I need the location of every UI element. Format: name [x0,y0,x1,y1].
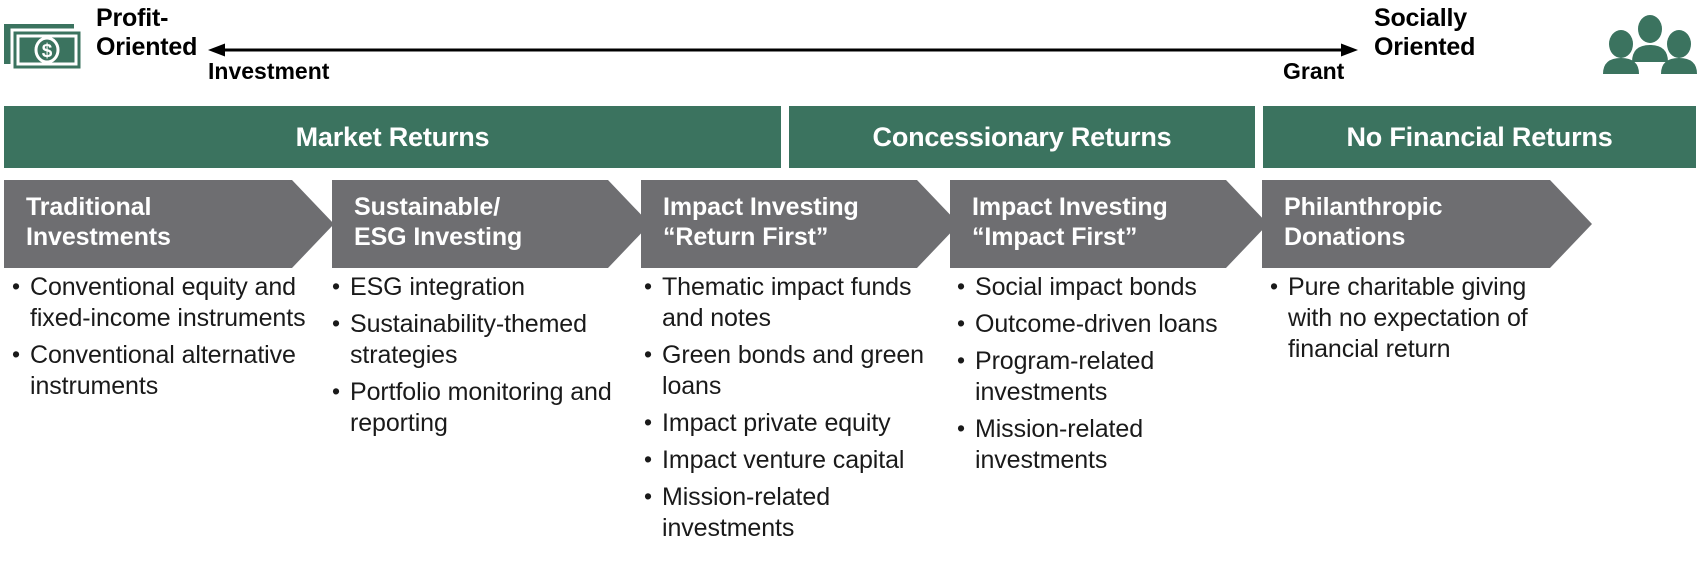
bullet-item: Pure charitable giving with no expectati… [1268,272,1558,365]
bullet-column-impact-investing-return-first: Thematic impact funds and notes Green bo… [642,272,947,550]
bullet-column-sustainable-esg-investing: ESG integration Sustainability-themed st… [330,272,630,445]
chevron-label: Impact Investing “Return First” [663,192,859,252]
spectrum-header: $ Profit- Oriented Investment Grant Soci… [0,0,1700,100]
category-chevron-row: Traditional Investments Sustainable/ ESG… [0,180,1700,268]
chevron-sustainable-esg-investing: Sustainable/ ESG Investing [332,180,650,268]
bullet-item: Thematic impact funds and notes [642,272,947,334]
bullet-item: Social impact bonds [955,272,1245,303]
returns-bar-market: Market Returns [4,106,781,168]
spectrum-axis-arrow [208,43,1358,57]
bullet-list: Thematic impact funds and notes Green bo… [642,272,947,544]
bullet-item: Impact venture capital [642,445,947,476]
returns-bar-label: Concessionary Returns [873,122,1172,153]
chevron-impact-investing-impact-first: Impact Investing “Impact First” [950,180,1268,268]
chevron-traditional-investments: Traditional Investments [4,180,334,268]
flow-label-investment: Investment [208,58,329,85]
bullet-item: ESG integration [330,272,630,303]
bullet-item: Mission-related investments [642,482,947,544]
bullet-item: Conventional equity and fixed-income ins… [10,272,320,334]
bullet-item: Conventional alternative instruments [10,340,320,402]
bullet-column-philanthropic-donations: Pure charitable giving with no expectati… [1268,272,1558,371]
returns-bar-label: Market Returns [296,122,490,153]
bullet-item: Outcome-driven loans [955,309,1245,340]
chevron-label: Impact Investing “Impact First” [972,192,1168,252]
bullet-item: Sustainability-themed strategies [330,309,630,371]
bullet-item: Program-related investments [955,346,1245,408]
chevron-label: Philanthropic Donations [1284,192,1442,252]
spectrum-of-capital-diagram: $ Profit- Oriented Investment Grant Soci… [0,0,1700,585]
chevron-label: Sustainable/ ESG Investing [354,192,522,252]
flow-label-grant: Grant [1283,58,1344,85]
chevron-label: Traditional Investments [26,192,171,252]
bullet-list: Pure charitable giving with no expectati… [1268,272,1558,365]
bullet-columns: Conventional equity and fixed-income ins… [0,272,1700,585]
bullet-item: Impact private equity [642,408,947,439]
bullet-list: ESG integration Sustainability-themed st… [330,272,630,439]
bullet-column-impact-investing-impact-first: Social impact bonds Outcome-driven loans… [955,272,1245,482]
svg-text:$: $ [42,41,53,62]
chevron-impact-investing-return-first: Impact Investing “Return First” [641,180,959,268]
returns-bar-no-financial: No Financial Returns [1263,106,1696,168]
returns-bar-concessionary: Concessionary Returns [789,106,1255,168]
chevron-philanthropic-donations: Philanthropic Donations [1262,180,1592,268]
bullet-item: Mission-related investments [955,414,1245,476]
bullet-list: Conventional equity and fixed-income ins… [10,272,320,402]
returns-bar-row: Market Returns Concessionary Returns No … [0,106,1700,168]
people-group-icon [1602,12,1698,74]
bullet-item: Portfolio monitoring and reporting [330,377,630,439]
money-stack-icon: $ [4,22,90,74]
bullet-item: Green bonds and green loans [642,340,947,402]
returns-bar-label: No Financial Returns [1346,122,1612,153]
pole-label-social: Socially Oriented [1374,4,1564,62]
bullet-list: Social impact bonds Outcome-driven loans… [955,272,1245,476]
bullet-column-traditional-investments: Conventional equity and fixed-income ins… [10,272,320,408]
